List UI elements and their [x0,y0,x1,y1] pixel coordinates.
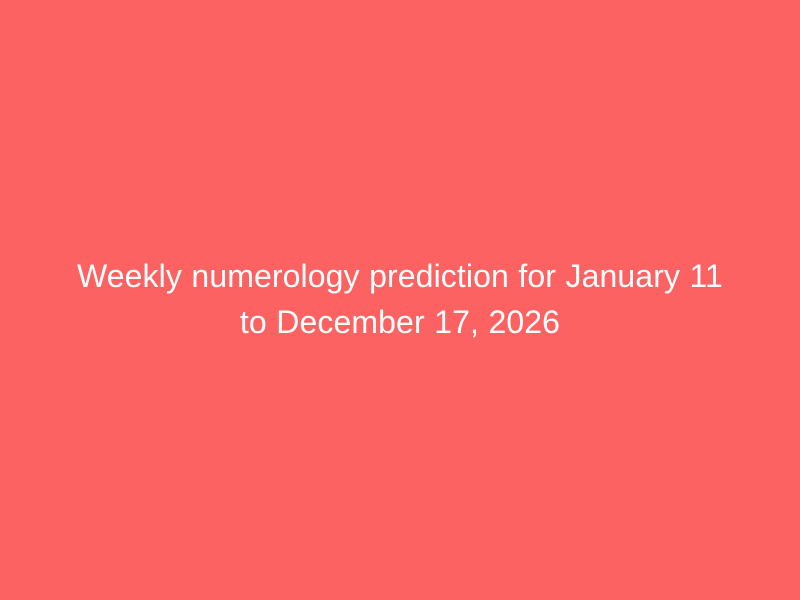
page-title: Weekly numerology prediction for January… [66,253,734,345]
featured-image-card: Weekly numerology prediction for January… [0,0,800,600]
title-block: Weekly numerology prediction for January… [50,253,750,345]
